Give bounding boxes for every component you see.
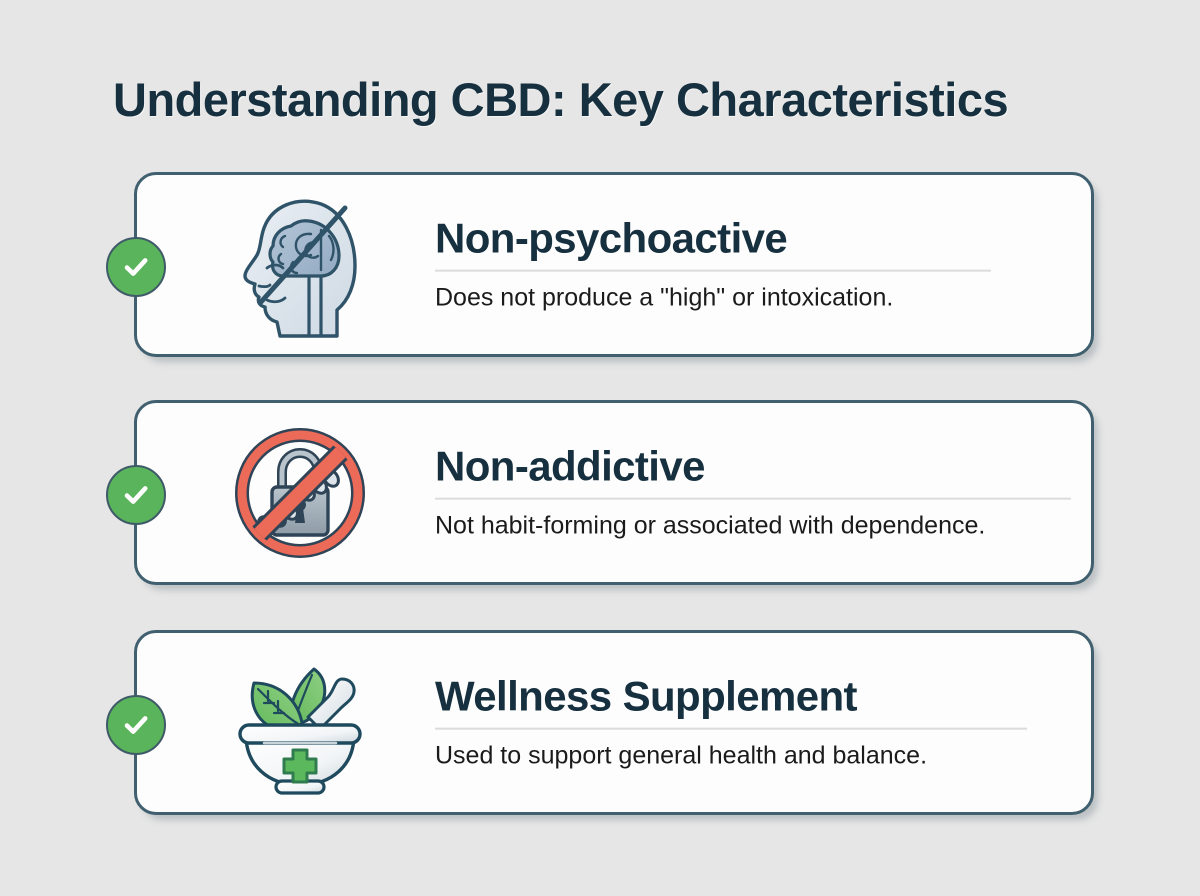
mortar-pestle-leaves-icon bbox=[207, 643, 392, 803]
characteristic-card[interactable]: Non-psychoactive Does not produce a "hig… bbox=[134, 172, 1094, 357]
check-circle-icon bbox=[106, 695, 166, 755]
page-title: Understanding CBD: Key Characteristics bbox=[113, 72, 1008, 127]
card-description: Used to support general health and balan… bbox=[435, 741, 1061, 771]
check-circle-icon bbox=[106, 465, 166, 525]
card-description: Does not produce a "high" or intoxicatio… bbox=[435, 283, 1061, 313]
title-divider bbox=[435, 270, 991, 272]
head-brain-slashed-icon bbox=[207, 185, 392, 345]
title-divider bbox=[435, 728, 1027, 730]
card-surface: Wellness Supplement Used to support gene… bbox=[134, 630, 1094, 815]
card-surface: Non-psychoactive Does not produce a "hig… bbox=[134, 172, 1094, 357]
characteristic-card[interactable]: Wellness Supplement Used to support gene… bbox=[134, 630, 1094, 815]
card-description: Not habit-forming or associated with dep… bbox=[435, 511, 1061, 541]
card-text-block: Non-addictive Not habit-forming or assoc… bbox=[435, 444, 1061, 541]
characteristic-card[interactable]: Non-addictive Not habit-forming or assoc… bbox=[134, 400, 1094, 585]
card-title: Wellness Supplement bbox=[435, 674, 1061, 718]
card-text-block: Non-psychoactive Does not produce a "hig… bbox=[435, 216, 1061, 313]
card-title: Non-psychoactive bbox=[435, 216, 1061, 260]
infographic-root: Understanding CBD: Key Characteristics bbox=[0, 0, 1200, 896]
card-text-block: Wellness Supplement Used to support gene… bbox=[435, 674, 1061, 771]
card-title: Non-addictive bbox=[435, 444, 1061, 488]
title-divider bbox=[435, 498, 1071, 500]
no-padlock-chain-icon bbox=[207, 413, 392, 573]
check-circle-icon bbox=[106, 237, 166, 297]
card-surface: Non-addictive Not habit-forming or assoc… bbox=[134, 400, 1094, 585]
